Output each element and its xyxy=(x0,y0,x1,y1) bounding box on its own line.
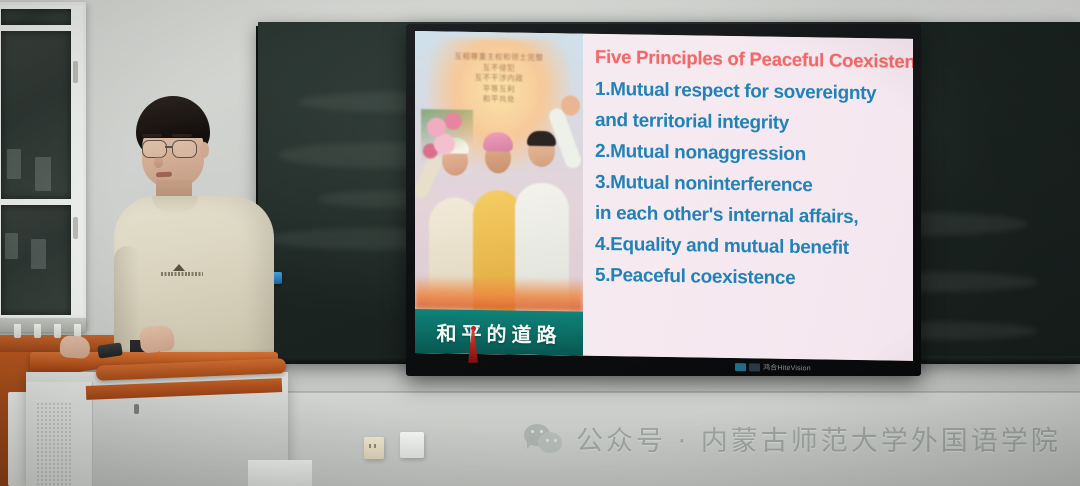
wall-socket-beige[interactable] xyxy=(364,437,384,459)
slide-title: Five Principles of Peaceful Coexistence xyxy=(595,46,913,73)
sweatshirt-chest-logo xyxy=(161,264,203,278)
poster-warm-glow xyxy=(415,275,583,312)
poster-flowers xyxy=(421,109,473,182)
bottle-1 xyxy=(14,324,21,338)
presenter-glasses xyxy=(138,140,208,156)
presenter-nose xyxy=(154,156,163,168)
socket-holes xyxy=(369,444,379,448)
slide-line-7: 5.Peaceful coexistence xyxy=(595,260,913,296)
slide-text-panel: Five Principles of Peaceful Coexistence … xyxy=(583,34,913,361)
presenter-brow-left xyxy=(142,134,162,137)
classroom-photo-scene: 互相尊重主权和领土完整 互不侵犯 互不干涉内政 平等互利 和平共处 xyxy=(0,0,1080,486)
poster-figure-right-hair xyxy=(527,131,556,146)
wechat-watermark: 公众号 · 内蒙古师范大学外国语学院 xyxy=(524,419,1061,458)
poster-figure-middle-turban xyxy=(483,132,513,151)
wall-socket-white[interactable] xyxy=(400,432,424,458)
lectern-lock[interactable] xyxy=(134,404,139,414)
poster-figure-right-hand xyxy=(561,95,580,115)
window-pane-lower xyxy=(1,205,71,315)
glasses-lens-left xyxy=(142,140,167,158)
classroom-window xyxy=(0,2,86,330)
presenter-brow-right xyxy=(172,134,192,137)
logo-mark-icon xyxy=(173,264,185,271)
slide-poster-image: 互相尊重主权和领土完整 互不侵犯 互不干涉内政 平等互利 和平共处 xyxy=(415,31,583,356)
window-pane-middle xyxy=(1,31,71,199)
smart-display-screen[interactable]: 互相尊重主权和领土完整 互不侵犯 互不干涉内政 平等互利 和平共处 xyxy=(415,31,913,361)
presentation-slide: 互相尊重主权和领土完整 互不侵犯 互不干涉内政 平等互利 和平共处 xyxy=(415,31,913,361)
lectern-base xyxy=(248,460,312,486)
glasses-bridge xyxy=(165,146,172,148)
window-latch-upper[interactable] xyxy=(73,61,78,83)
bottle-2 xyxy=(34,324,41,338)
logo-wordmark xyxy=(161,272,203,276)
window-latch-lower[interactable] xyxy=(73,217,78,239)
poster-chinese-text: 互相尊重主权和领土完整 互不侵犯 互不干涉内政 平等互利 和平共处 xyxy=(437,51,561,105)
presenter-hand-on-rail xyxy=(139,324,176,353)
presenter-mouth xyxy=(156,172,172,178)
wechat-icon xyxy=(524,422,564,456)
display-brand-text: 鸿合HiteVision xyxy=(763,362,811,373)
window-pane-top xyxy=(1,9,71,25)
display-brand-strip: 鸿合HiteVision xyxy=(735,361,843,374)
watermark-text: 公众号 · 内蒙古师范大学外国语学院 xyxy=(576,419,1061,458)
presenter-hand-with-remote xyxy=(59,335,90,359)
poster-banner: 和平的道路 xyxy=(415,309,583,356)
poster-banner-text: 和平的道路 xyxy=(437,317,562,348)
bottle-3 xyxy=(54,324,61,338)
glasses-lens-right xyxy=(172,140,197,158)
lectern-speaker-grille xyxy=(36,402,72,486)
display-indicator-1 xyxy=(735,363,746,371)
display-indicator-2 xyxy=(749,363,760,371)
